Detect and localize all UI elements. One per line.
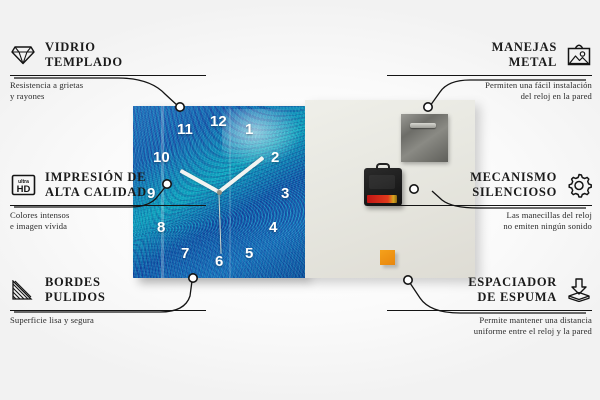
- feature-subtitle-line-2: del reloj en la pared: [387, 91, 592, 103]
- diamond-icon: [10, 43, 36, 67]
- feature-title-line-1: MANEJAS: [492, 40, 557, 55]
- feature-subtitle: Superficie lisa y segura: [10, 315, 206, 327]
- feature-header: MECANISMO SILENCIOSO: [387, 170, 592, 201]
- feature-title: ESPACIADOR DE ESPUMA: [468, 275, 557, 306]
- feature-header: BORDES PULIDOS: [10, 275, 206, 306]
- polished-edge-icon: [10, 278, 36, 302]
- feature-title-line-2: TEMPLADO: [45, 55, 123, 70]
- feature-impresion-alta-calidad: ultra HD IMPRESIÓN DE ALTA CALIDAD Color…: [10, 170, 206, 233]
- feature-subtitle-line-2: y rayones: [10, 91, 206, 103]
- feature-subtitle-line-2: uniforme entre el reloj y la pared: [387, 326, 592, 338]
- feature-title: MECANISMO SILENCIOSO: [470, 170, 557, 201]
- feature-subtitle-line-1: Las manecillas del reloj: [387, 210, 592, 222]
- feature-divider: [387, 205, 592, 206]
- feature-vidrio-templado: VIDRIO TEMPLADO Resistencia a grietas y …: [10, 40, 206, 103]
- feature-header: ultra HD IMPRESIÓN DE ALTA CALIDAD: [10, 170, 206, 201]
- gear-icon: [566, 173, 592, 197]
- ultra-hd-icon: ultra HD: [10, 173, 36, 197]
- feature-header: VIDRIO TEMPLADO: [10, 40, 206, 71]
- feature-subtitle-line-2: e imagen vívida: [10, 221, 206, 233]
- feature-title: MANEJAS METAL: [492, 40, 557, 71]
- feature-subtitle: Las manecillas del reloj no emiten ningú…: [387, 210, 592, 233]
- feature-subtitle: Colores intensos e imagen vívida: [10, 210, 206, 233]
- connector-dot-vidrio: [176, 103, 184, 111]
- feature-subtitle-line-2: no emiten ningún sonido: [387, 221, 592, 233]
- feature-title-line-1: MECANISMO: [470, 170, 557, 185]
- feature-divider: [10, 75, 206, 76]
- feature-subtitle-line-1: Permite mantener una distancia: [387, 315, 592, 327]
- feature-title-line-1: BORDES: [45, 275, 105, 290]
- feature-title-line-2: SILENCIOSO: [470, 185, 557, 200]
- feature-header: MANEJAS METAL: [387, 40, 592, 71]
- feature-title-line-1: ESPACIADOR: [468, 275, 557, 290]
- feature-title-line-1: IMPRESIÓN DE: [45, 170, 147, 185]
- feature-subtitle-line-1: Permiten una fácil instalación: [387, 80, 592, 92]
- feature-subtitle: Permiten una fácil instalación del reloj…: [387, 80, 592, 103]
- feature-title: IMPRESIÓN DE ALTA CALIDAD: [45, 170, 147, 201]
- feature-subtitle-line-1: Colores intensos: [10, 210, 206, 222]
- feature-divider: [387, 75, 592, 76]
- feature-divider: [10, 205, 206, 206]
- feature-title-line-2: METAL: [492, 55, 557, 70]
- feature-divider: [10, 310, 206, 311]
- feature-mecanismo-silencioso: MECANISMO SILENCIOSO Las manecillas del …: [387, 170, 592, 233]
- feature-title-line-1: VIDRIO: [45, 40, 123, 55]
- feature-title-line-2: DE ESPUMA: [468, 290, 557, 305]
- feature-title-line-2: ALTA CALIDAD: [45, 185, 147, 200]
- feature-title: BORDES PULIDOS: [45, 275, 105, 306]
- foam-spacer-arrow-icon: [566, 278, 592, 302]
- feature-espaciador-de-espuma: ESPACIADOR DE ESPUMA Permite mantener un…: [387, 275, 592, 338]
- feature-title-line-2: PULIDOS: [45, 290, 105, 305]
- infographic-canvas: 12 1 2 3 4 5 6 7 8 9 10 11: [0, 0, 600, 400]
- connector-dot-manejas: [424, 103, 432, 111]
- feature-header: ESPACIADOR DE ESPUMA: [387, 275, 592, 306]
- svg-text:HD: HD: [16, 184, 30, 195]
- feature-manejas-metal: MANEJAS METAL Permiten una fácil instala…: [387, 40, 592, 103]
- feature-subtitle-line-1: Superficie lisa y segura: [10, 315, 206, 327]
- feature-bordes-pulidos: BORDES PULIDOS Superficie lisa y segura: [10, 275, 206, 326]
- feature-subtitle-line-1: Resistencia a grietas: [10, 80, 206, 92]
- feature-divider: [387, 310, 592, 311]
- feature-subtitle: Resistencia a grietas y rayones: [10, 80, 206, 103]
- feature-title: VIDRIO TEMPLADO: [45, 40, 123, 71]
- feature-subtitle: Permite mantener una distancia uniforme …: [387, 315, 592, 338]
- picture-frame-hanger-icon: [566, 43, 592, 67]
